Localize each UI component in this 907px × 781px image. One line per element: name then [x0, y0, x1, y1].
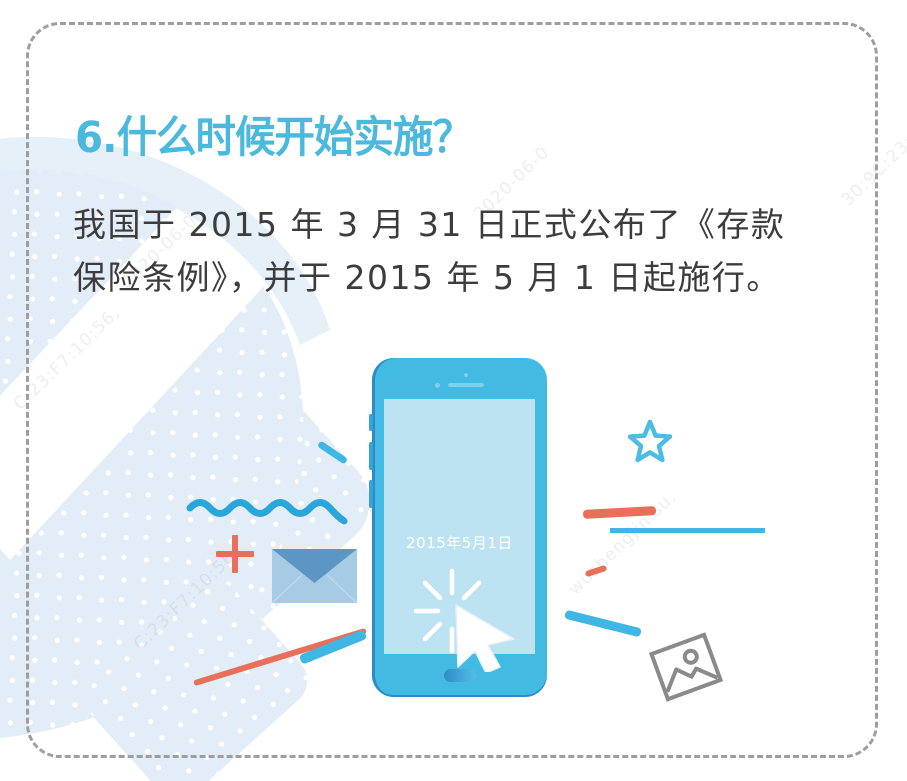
phone-camera-dot	[435, 383, 440, 388]
page-title: 6.什么时候开始实施？	[75, 103, 472, 165]
phone-volume-up-button[interactable]	[369, 442, 373, 470]
smartphone-illustration: 2015年5月1日	[372, 358, 547, 697]
poster-canvas: C:23:F7:10:56, 2020-06-0 wushengjin.su, …	[0, 0, 907, 781]
phone-speaker-slot	[448, 383, 484, 387]
phone-screen[interactable]: 2015年5月1日	[384, 399, 535, 654]
phone-volume-down-button[interactable]	[369, 480, 373, 508]
star-icon	[626, 418, 674, 466]
envelope-icon	[272, 549, 357, 603]
phone-mute-button[interactable]	[369, 414, 373, 431]
phone-sensor-dot	[464, 373, 468, 377]
body-paragraph: 我国于 2015 年 3 月 31 日正式公布了《存款 保险条例》，并于 201…	[73, 198, 833, 304]
wavy-line	[186, 494, 362, 534]
phone-home-button[interactable]	[444, 669, 476, 682]
cursor-icon	[414, 567, 524, 672]
paragraph-line-2: 保险条例》，并于 2015 年 5 月 1 日起施行。	[73, 251, 833, 304]
phone-screen-date: 2015年5月1日	[384, 532, 535, 553]
paragraph-line-1: 我国于 2015 年 3 月 31 日正式公布了《存款	[73, 198, 833, 251]
blue-line-long	[610, 528, 765, 533]
plus-icon	[216, 535, 254, 573]
